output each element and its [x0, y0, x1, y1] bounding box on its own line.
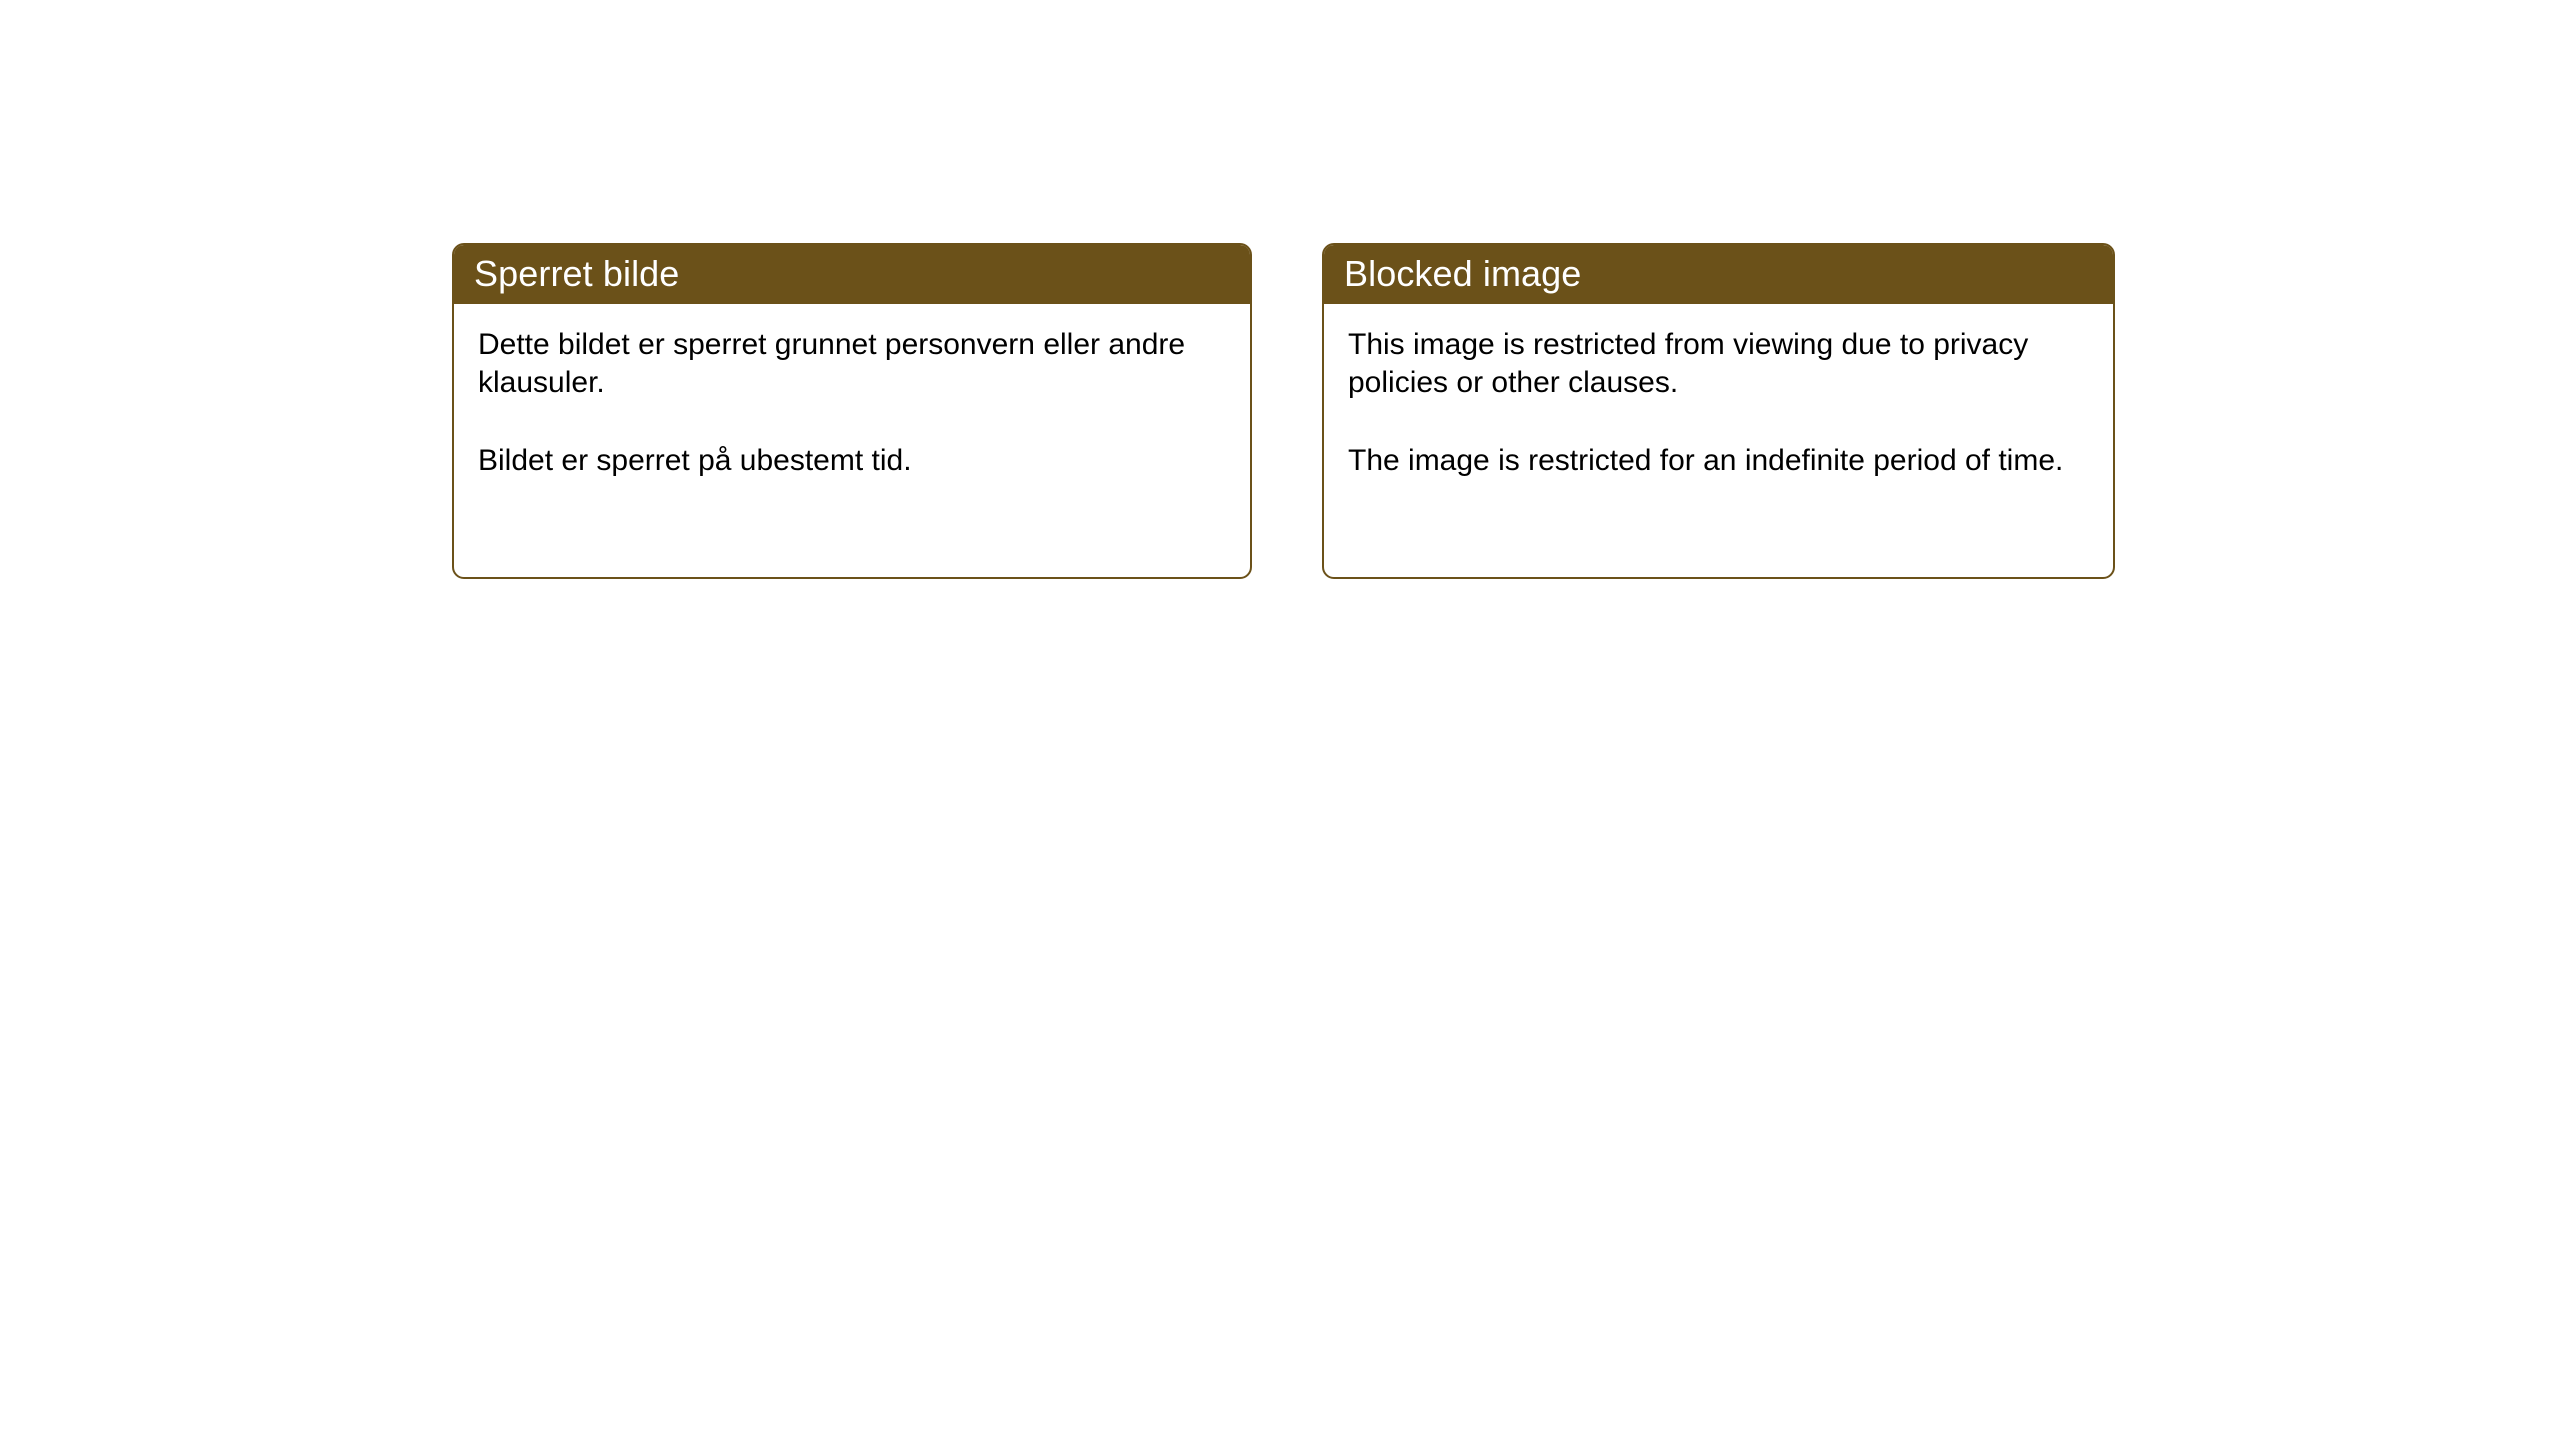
card-title-norwegian: Sperret bilde [474, 256, 679, 292]
blocked-image-card-english: Blocked image This image is restricted f… [1322, 243, 2115, 579]
blocked-image-card-norwegian: Sperret bilde Dette bildet er sperret gr… [452, 243, 1252, 579]
card-body-english: This image is restricted from viewing du… [1324, 304, 2113, 480]
card-header-english: Blocked image [1322, 243, 2115, 304]
card-paragraph-restriction-reason-norwegian: Dette bildet er sperret grunnet personve… [478, 326, 1224, 403]
blocked-image-notice-area: Sperret bilde Dette bildet er sperret gr… [0, 0, 2560, 1440]
card-paragraph-restriction-duration-norwegian: Bildet er sperret på ubestemt tid. [478, 442, 1224, 480]
card-header-norwegian: Sperret bilde [452, 243, 1252, 304]
card-paragraph-restriction-duration-english: The image is restricted for an indefinit… [1348, 442, 2087, 480]
card-paragraph-restriction-reason-english: This image is restricted from viewing du… [1348, 326, 2087, 403]
card-title-english: Blocked image [1344, 256, 1581, 292]
card-body-norwegian: Dette bildet er sperret grunnet personve… [454, 304, 1250, 480]
